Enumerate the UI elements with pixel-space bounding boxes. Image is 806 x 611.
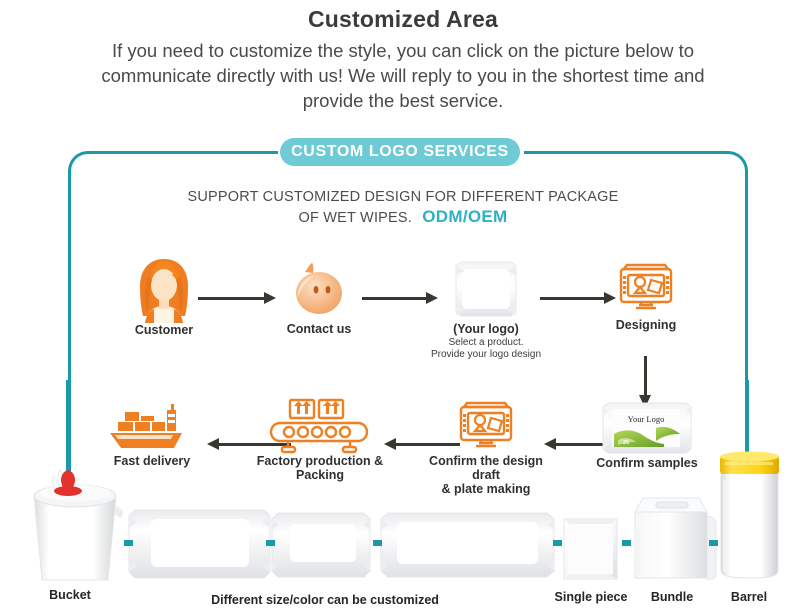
custom-logo-services-banner: CUSTOM LOGO SERVICES	[280, 138, 520, 166]
sample-pack-logo-text: Your Logo	[628, 414, 665, 424]
odm-oem-label: ODM/OEM	[422, 207, 507, 226]
product-label-barrel: Barrel	[713, 590, 785, 604]
flow-node-confirm-design[interactable]: Confirm the design draft & plate making	[421, 396, 551, 496]
flow-label: Factory production & Packing	[255, 454, 385, 482]
conveyor-belt-icon	[255, 396, 385, 454]
sample-pack-count-text: 25	[623, 440, 629, 446]
teal-connector-dot	[709, 540, 718, 546]
design-monitor-icon	[421, 396, 551, 454]
blank-wipes-pack-icon	[424, 258, 548, 322]
flow-node-customer[interactable]: Customer	[118, 255, 210, 337]
arrow-head	[207, 438, 219, 450]
logo-wipes-pack-icon: Your Logo 25	[596, 400, 698, 456]
product-bucket[interactable]	[20, 462, 130, 584]
flow-label: Confirm the design draft & plate making	[421, 454, 551, 496]
left-connector-line	[66, 380, 70, 475]
product-label-single-piece: Single piece	[545, 590, 637, 604]
flow-node-fast-delivery[interactable]: Fast delivery	[105, 398, 199, 468]
woman-avatar-icon	[118, 255, 210, 323]
teal-connector-dot	[266, 540, 275, 546]
flow-label: Designing	[605, 318, 687, 332]
product-barrel[interactable]	[715, 450, 785, 582]
flow-node-confirm-samples[interactable]: Your Logo 25 Confirm samples	[596, 400, 698, 470]
product-single-piece[interactable]	[559, 516, 622, 582]
support-text-block: SUPPORT CUSTOMIZED DESIGN FOR DIFFERENT …	[183, 188, 623, 228]
arrow-shaft	[198, 297, 266, 300]
product-flat-pack-medium[interactable]	[271, 508, 371, 582]
page-description: If you need to customize the style, you …	[78, 38, 728, 113]
cargo-ship-icon	[105, 398, 199, 454]
flow-label: (Your logo)	[424, 322, 548, 336]
teal-connector-dot	[553, 540, 562, 546]
support-text: SUPPORT CUSTOMIZED DESIGN FOR DIFFERENT …	[187, 189, 618, 226]
arrow-head	[544, 438, 556, 450]
product-bundle[interactable]	[629, 490, 719, 582]
arrow-shaft	[540, 297, 606, 300]
arrow-customer-to-contact	[198, 292, 276, 304]
flow-node-your-logo[interactable]: (Your logo) Select a product. Provide yo…	[424, 258, 548, 361]
product-label-bundle: Bundle	[637, 590, 707, 604]
teal-connector-dot	[622, 540, 631, 546]
flow-node-factory-production[interactable]: Factory production & Packing	[255, 396, 385, 482]
arrow-head	[384, 438, 396, 450]
product-label-flat-pack: Different size/color can be customized	[190, 593, 460, 607]
customized-area-page: Customized Area If you need to customize…	[0, 0, 806, 611]
page-title: Customized Area	[0, 6, 806, 33]
flow-node-designing[interactable]: Designing	[605, 256, 687, 332]
teal-connector-dot	[373, 540, 382, 546]
product-flat-pack-wide[interactable]	[380, 508, 555, 582]
product-label-bucket: Bucket	[20, 588, 120, 602]
chat-blob-icon	[278, 262, 360, 322]
arrow-shaft	[644, 356, 647, 396]
design-monitor-icon	[605, 256, 687, 318]
flow-node-contact-us[interactable]: Contact us	[278, 262, 360, 336]
product-flat-pack-large-1[interactable]	[127, 505, 272, 583]
teal-connector-dot	[124, 540, 133, 546]
banner-label: CUSTOM LOGO SERVICES	[291, 143, 509, 161]
arrow-head	[264, 292, 276, 304]
flow-label: Contact us	[278, 322, 360, 336]
arrow-shaft	[362, 297, 428, 300]
flow-label: Customer	[118, 323, 210, 337]
flow-label: Confirm samples	[596, 456, 698, 470]
right-connector-line	[745, 380, 749, 458]
flow-sublabel: Select a product. Provide your logo desi…	[424, 337, 548, 361]
